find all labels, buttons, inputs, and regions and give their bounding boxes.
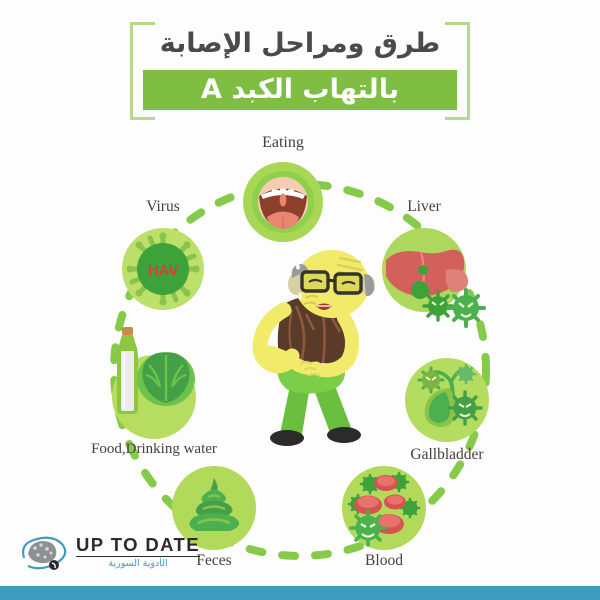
virus-particle — [449, 392, 481, 424]
open-mouth-icon — [243, 162, 323, 242]
water-bottle-icon — [117, 327, 139, 414]
brand-name: UP TO DATE — [76, 535, 200, 554]
virus-particle — [448, 290, 484, 326]
node-label-liver: Liver — [344, 198, 504, 216]
node-label-blood: Blood — [304, 552, 464, 570]
jaundiced-patient-illustration — [240, 248, 400, 454]
virus-icon: HAV — [122, 228, 204, 310]
page-title-arabic: طرق ومراحل الإصابة — [130, 24, 470, 64]
brand-footer: UP TO DATE الأدوية السورية — [18, 530, 200, 574]
brand-name-arabic: الأدوية السورية — [76, 558, 200, 569]
blood-cells-icon — [342, 466, 426, 550]
bottle-cabbage-icon — [94, 317, 204, 427]
infographic-canvas: طرق ومراحل الإصابة بالتهاب الكبد A Eatin… — [0, 0, 600, 600]
title-block: طرق ومراحل الإصابة بالتهاب الكبد A — [130, 22, 470, 114]
virus-particle-large — [351, 511, 385, 545]
virus-particle — [419, 368, 443, 392]
title-band: بالتهاب الكبد A — [143, 70, 457, 110]
syria-map-icon — [18, 532, 70, 572]
brand-text-block: UP TO DATE الأدوية السورية — [76, 535, 200, 570]
node-label-virus: Virus — [83, 198, 243, 216]
cabbage-icon — [137, 352, 195, 406]
page-subtitle-arabic: بالتهاب الكبد A — [143, 70, 457, 110]
node-label-eating: Eating — [203, 134, 363, 152]
node-label-food: Food,Drinking water — [62, 441, 246, 458]
virus-particle — [424, 292, 452, 320]
gallbladder-icon — [405, 358, 489, 442]
virus-particle — [457, 365, 475, 383]
bottom-accent-bar — [0, 586, 600, 600]
virus-badge-text: HAV — [148, 262, 179, 279]
